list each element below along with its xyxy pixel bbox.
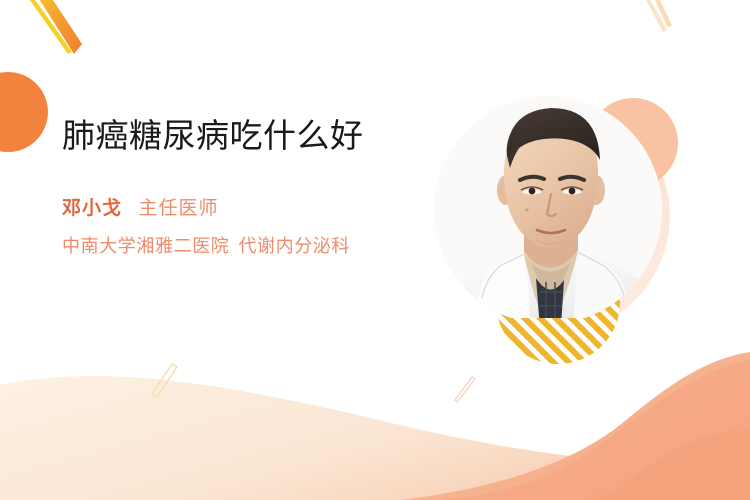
doctor-info-card: 肺癌糖尿病吃什么好 邓小戈 主任医师 中南大学湘雅二医院代谢内分泌科 [0, 0, 750, 500]
striped-circle-front [496, 240, 620, 364]
doctor-affiliation-row: 中南大学湘雅二医院代谢内分泌科 [62, 232, 412, 258]
hospital-name: 中南大学湘雅二医院 [62, 236, 229, 256]
doctor-name-row: 邓小戈 主任医师 [62, 193, 412, 220]
doctor-rank: 主任医师 [138, 198, 218, 219]
department-name: 代谢内分泌科 [238, 236, 350, 256]
text-content: 肺癌糖尿病吃什么好 邓小戈 主任医师 中南大学湘雅二医院代谢内分泌科 [62, 116, 412, 258]
page-title: 肺癌糖尿病吃什么好 [62, 116, 392, 157]
doctor-name: 邓小戈 [62, 198, 122, 219]
